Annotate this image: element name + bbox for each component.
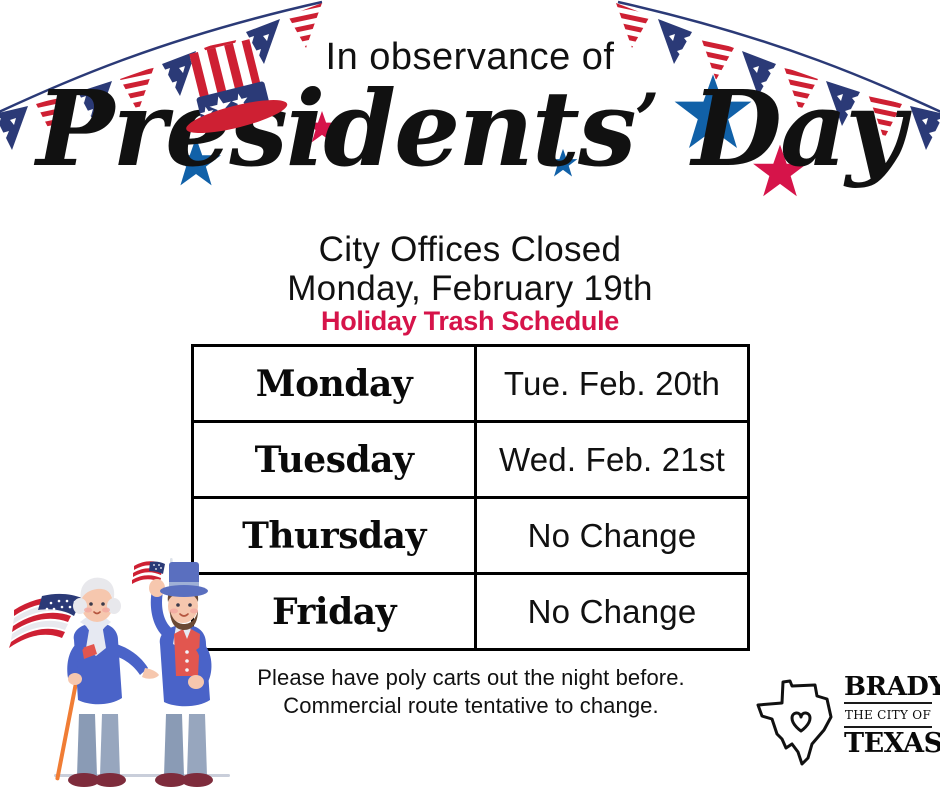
title-presidents: Presidents	[36, 67, 634, 190]
schedule-pickup: Wed. Feb. 21st	[476, 422, 749, 498]
closure-line-1: City Offices Closed	[0, 230, 940, 269]
schedule-pickup: No Change	[476, 498, 749, 574]
table-row: Tuesday Wed. Feb. 21st	[193, 422, 749, 498]
holiday-trash-schedule-table: Monday Tue. Feb. 20th Tuesday Wed. Feb. …	[191, 344, 750, 651]
uncle-sam-top-hat-icon	[176, 38, 296, 148]
table-row: Thursday No Change	[193, 498, 749, 574]
footer-note: Please have poly carts out the night bef…	[190, 664, 752, 720]
page-title: Presidents’ Day	[0, 74, 940, 183]
table-row: Friday No Change	[193, 574, 749, 650]
logo-texas-text: TEXAS	[844, 730, 932, 758]
logo-rule-top	[844, 702, 932, 704]
texas-outline-with-heart-icon	[752, 672, 838, 768]
closure-line-2: Monday, February 19th	[0, 269, 940, 308]
title-day: Day	[692, 67, 904, 190]
brady-city-logo: BRADY THE CITY OF TEXAS	[752, 668, 932, 772]
presidents-day-poster: In observance of Presidents’ Day	[0, 0, 940, 788]
schedule-pickup: No Change	[476, 574, 749, 650]
trash-schedule-heading: Holiday Trash Schedule	[0, 306, 940, 337]
office-closure-text: City Offices Closed Monday, February 19t…	[0, 230, 940, 308]
note-line-2: Commercial route tentative to change.	[190, 692, 752, 720]
washington-figure	[67, 578, 159, 787]
note-line-1: Please have poly carts out the night bef…	[190, 664, 752, 692]
brady-wordmark: BRADY THE CITY OF TEXAS	[844, 674, 932, 758]
two-presidents-with-flags-illustration	[2, 548, 254, 788]
title-apostrophe: ’	[635, 77, 658, 162]
stovepipe-hat-icon	[160, 562, 208, 597]
schedule-pickup: Tue. Feb. 20th	[476, 346, 749, 422]
logo-city-of-text: THE CITY OF	[844, 706, 932, 724]
schedule-day: Tuesday	[193, 422, 476, 498]
table-row: Monday Tue. Feb. 20th	[193, 346, 749, 422]
schedule-day: Monday	[193, 346, 476, 422]
logo-brady-text: BRADY	[844, 674, 932, 700]
